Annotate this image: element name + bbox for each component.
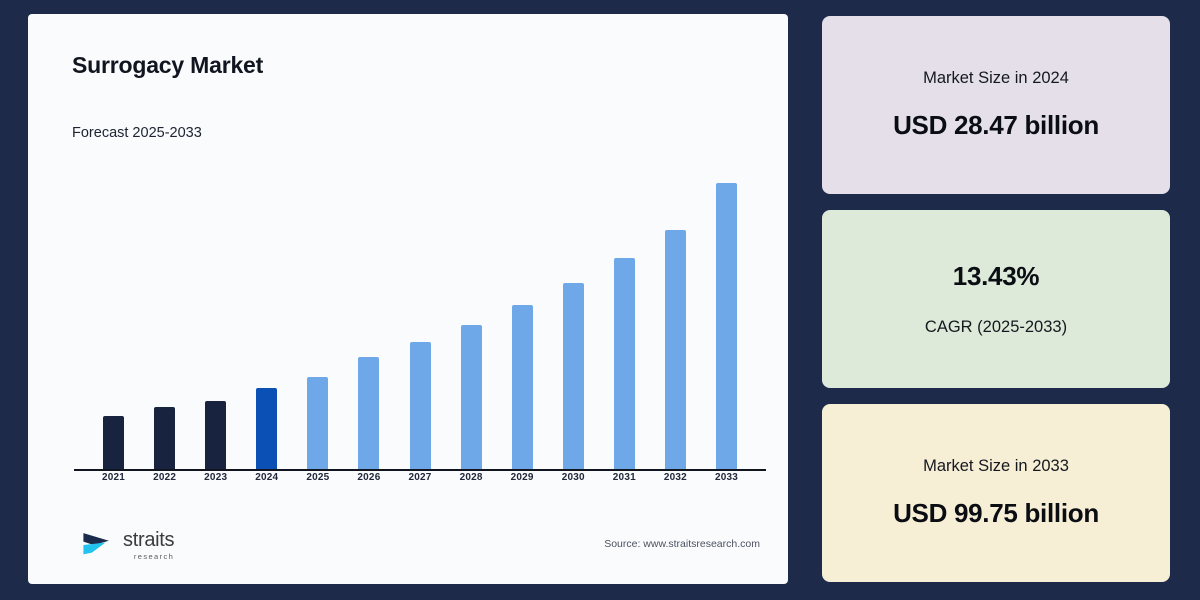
bar-slot — [343, 154, 394, 470]
bar-2030 — [563, 283, 584, 470]
chart-subtitle: Forecast 2025-2033 — [72, 125, 758, 141]
bar-slot — [599, 154, 650, 470]
page-title: Surrogacy Market — [72, 52, 758, 79]
x-tick-2033: 2033 — [701, 472, 752, 483]
stat-cards: Market Size in 2024USD 28.47 billion13.4… — [822, 14, 1170, 584]
x-tick-2024: 2024 — [241, 472, 292, 483]
bar-slot — [548, 154, 599, 470]
x-tick-2022: 2022 — [139, 472, 190, 483]
bar-2032 — [665, 230, 686, 470]
bar-slot — [650, 154, 701, 470]
card-value-market-size-2024: USD 28.47 billion — [893, 110, 1099, 141]
bar-2029 — [512, 305, 533, 470]
chart-panel: Surrogacy Market Forecast 2025-2033 2021… — [28, 14, 788, 584]
bar-slot — [394, 154, 445, 470]
card-value-market-size-2033: USD 99.75 billion — [893, 498, 1099, 529]
x-tick-2026: 2026 — [343, 472, 394, 483]
x-tick-2027: 2027 — [394, 472, 445, 483]
bar-slot — [190, 154, 241, 470]
bar-slot — [497, 154, 548, 470]
bar-slot — [241, 154, 292, 470]
bar-2023 — [205, 401, 226, 470]
logo-subtitle: research — [134, 553, 174, 561]
bar-2026 — [358, 357, 379, 470]
bar-slot — [701, 154, 752, 470]
bar-2028 — [461, 325, 482, 470]
source-text: Source: www.straitsresearch.com — [604, 538, 760, 550]
card-label-market-size-2024: Market Size in 2024 — [923, 69, 1069, 88]
bar-2022 — [154, 407, 175, 470]
x-tick-2028: 2028 — [446, 472, 497, 483]
card-label-market-size-2033: Market Size in 2033 — [923, 457, 1069, 476]
bar-2024 — [256, 388, 277, 470]
card-cagr: 13.43%CAGR (2025-2033) — [822, 210, 1170, 388]
x-tick-2029: 2029 — [497, 472, 548, 483]
x-tick-2032: 2032 — [650, 472, 701, 483]
bar-2021 — [103, 416, 124, 470]
bar-slot — [446, 154, 497, 470]
x-tick-2023: 2023 — [190, 472, 241, 483]
bar-slot — [88, 154, 139, 470]
bar-series — [74, 154, 766, 470]
card-market-size-2024: Market Size in 2024USD 28.47 billion — [822, 16, 1170, 194]
x-tick-2021: 2021 — [88, 472, 139, 483]
bar-2027 — [410, 342, 431, 470]
card-value-cagr: 13.43% — [953, 261, 1039, 292]
straits-research-logo: straits research — [80, 528, 174, 562]
x-axis-tick-labels: 2021202220232024202520262027202820292030… — [74, 472, 766, 483]
logo-name: straits — [123, 530, 174, 550]
x-axis-line — [74, 469, 766, 471]
bar-slot — [292, 154, 343, 470]
infographic-root: Surrogacy Market Forecast 2025-2033 2021… — [0, 0, 1200, 600]
x-tick-2025: 2025 — [292, 472, 343, 483]
bar-2025 — [307, 377, 328, 470]
bar-slot — [139, 154, 190, 470]
bar-chart-plot — [74, 154, 766, 470]
straits-arrow-logo-icon — [80, 528, 114, 562]
card-market-size-2033: Market Size in 2033USD 99.75 billion — [822, 404, 1170, 582]
panel-footer: straits research Source: www.straitsrese… — [54, 528, 760, 562]
bar-2031 — [614, 258, 635, 470]
card-label-cagr: CAGR (2025-2033) — [925, 318, 1067, 337]
bar-2033 — [716, 183, 737, 470]
logo-wordmark: straits research — [123, 530, 174, 561]
x-tick-2030: 2030 — [548, 472, 599, 483]
x-tick-2031: 2031 — [599, 472, 650, 483]
